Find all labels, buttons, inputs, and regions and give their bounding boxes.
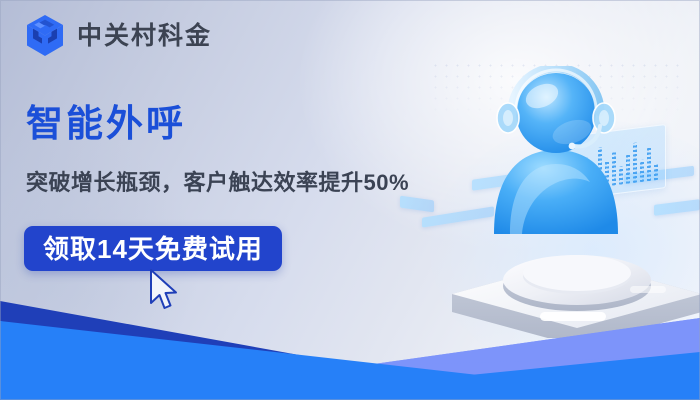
round-platform-icon xyxy=(444,230,700,338)
hero-illustration xyxy=(400,52,700,312)
floating-slab xyxy=(400,196,434,213)
isometric-cube-logo-icon xyxy=(24,14,66,58)
subtitle: 突破增长瓶颈，客户触达效率提升50% xyxy=(26,172,409,194)
headset-agent-avatar-icon xyxy=(486,66,626,234)
free-trial-button[interactable]: 领取14天免费试用 xyxy=(24,226,282,271)
floating-slab xyxy=(654,199,700,216)
brand-logo[interactable]: 中关村科金 xyxy=(24,14,212,58)
promo-banner: 中关村科金 xyxy=(0,0,700,400)
page-title: 智能外呼 xyxy=(26,105,186,142)
mouse-pointer-arrow-icon xyxy=(148,268,182,314)
ribbon-navy xyxy=(0,301,360,386)
brand-name: 中关村科金 xyxy=(77,24,212,49)
